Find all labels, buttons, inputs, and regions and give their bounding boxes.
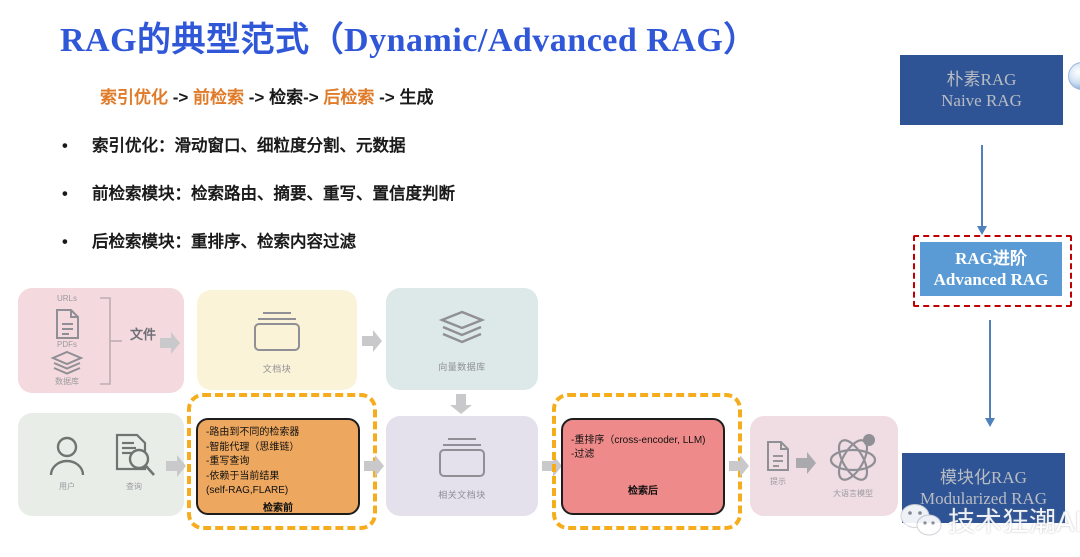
vector-database-icon [438,310,486,346]
rail-arrow-2-line [989,320,991,420]
source-label-database: 数据库 [38,376,96,387]
document-chunk-icon [434,436,490,480]
user-icon [46,435,88,477]
pipeline-arrow-1: -> [168,88,193,107]
database-stack-icon [50,350,84,376]
user-label: 用户 [46,481,88,492]
query-label: 查询 [112,481,156,492]
arrow-right-icon [796,452,816,474]
vector-db-block: 向量数据库 [386,288,538,390]
post-retrieval-line-1: -重排序（cross-encoder, LLM) [571,434,715,449]
arrow-down-icon [450,394,472,414]
bullet-text: 后检索模块：重排序、检索内容过滤 [92,233,356,251]
arrow-right-icon [362,330,382,352]
llm-label: 大语言模型 [820,488,886,499]
bullet-item-indexing: •索引优化：滑动窗口、细粒度分割、元数据 [62,132,822,156]
bullet-marker: • [62,233,92,252]
bullet-text: 前检索模块：检索路由、摘要、重写、置信度判断 [92,185,455,203]
post-retrieval-card: -重排序（cross-encoder, LLM) -过滤 检索后 [561,418,725,515]
bullet-marker: • [62,137,92,156]
pipeline-step-generation: 生成 [399,88,433,107]
post-retrieval-caption: 检索后 [571,485,715,500]
relevant-chunks-block: 相关文档块 [386,416,538,516]
pipeline-step-retrieval: 检索 [269,88,303,107]
rail-naive-rag-en: Naive RAG [941,90,1022,111]
pipeline-summary: 索引优化 -> 前检索 -> 检索-> 后检索 -> 生成 [100,83,433,108]
pipeline-step-pre-retrieval: 前检索 [193,88,244,107]
prompt-label: 提示 [760,476,796,487]
bullet-text: 索引优化：滑动窗口、细粒度分割、元数据 [92,137,406,155]
document-chunk-icon [249,310,305,354]
generation-block: 提示 大语言模型 [750,416,898,516]
rail-advanced-rag-cn: RAG进阶 [955,248,1027,269]
pipeline-arrow-3: -> [303,88,323,107]
arrow-right-icon [166,455,186,477]
bullet-item-post-retrieval: •后检索模块：重排序、检索内容过滤 [62,228,822,252]
source-label-urls: URLs [40,294,94,303]
rail-modular-rag-cn: 模块化RAG [940,467,1027,488]
pipeline-step-post-retrieval: 后检索 [323,88,374,107]
wechat-icon [900,502,944,538]
pipeline-step-indexing: 索引优化 [100,88,168,107]
decorative-orb [1068,62,1080,90]
user-query-block: 用户 查询 [18,413,184,516]
bullet-item-pre-retrieval: •前检索模块：检索路由、摘要、重写、置信度判断 [62,180,822,204]
arrow-right-icon [729,455,749,477]
pre-retrieval-line-1: -路由到不同的检索器 [206,426,350,441]
pre-retrieval-line-3: -重写查询 [206,455,350,470]
watermark: 技术狂潮AI [900,500,1080,539]
relevant-chunks-label: 相关文档块 [386,488,538,501]
post-retrieval-line-2: -过滤 [571,448,715,463]
rail-naive-rag-cn: 朴素RAG [947,69,1017,90]
pre-retrieval-line-2: -智能代理（思维链） [206,441,350,456]
vector-db-label: 向量数据库 [386,360,538,373]
pre-retrieval-line-4: -依赖于当前结果 [206,470,350,485]
pipeline-arrow-4: -> [374,88,399,107]
prompt-document-icon [764,440,792,472]
watermark-text: 技术狂潮AI [948,500,1080,539]
rail-arrow-2-head [985,418,995,427]
group-bracket-icon [98,296,124,386]
llm-atom-icon [824,430,882,484]
document-icon [52,308,82,340]
pre-retrieval-line-5: (self-RAG,FLARE) [206,484,350,499]
rail-arrow-1-head [977,226,987,235]
rail-arrow-1-line [981,145,983,228]
pipeline-arrow-2: -> [244,88,269,107]
doc-chunks-block: 文档块 [197,290,357,390]
rail-naive-rag-box[interactable]: 朴素RAG Naive RAG [900,55,1063,125]
arrow-right-icon [160,332,180,354]
pre-retrieval-caption: 检索前 [206,502,350,517]
source-label-pdfs: PDFs [40,340,94,349]
query-search-icon [112,433,156,477]
arrow-right-icon [364,455,384,477]
pre-retrieval-card: -路由到不同的检索器 -智能代理（思维链） -重写查询 -依赖于当前结果 (se… [196,418,360,515]
rail-advanced-rag-box[interactable]: RAG进阶 Advanced RAG [920,242,1062,296]
doc-chunks-label: 文档块 [197,362,357,375]
bullet-marker: • [62,185,92,204]
rail-advanced-rag-en: Advanced RAG [934,269,1049,290]
page-title: RAG的典型范式（Dynamic/Advanced RAG） [60,12,860,61]
